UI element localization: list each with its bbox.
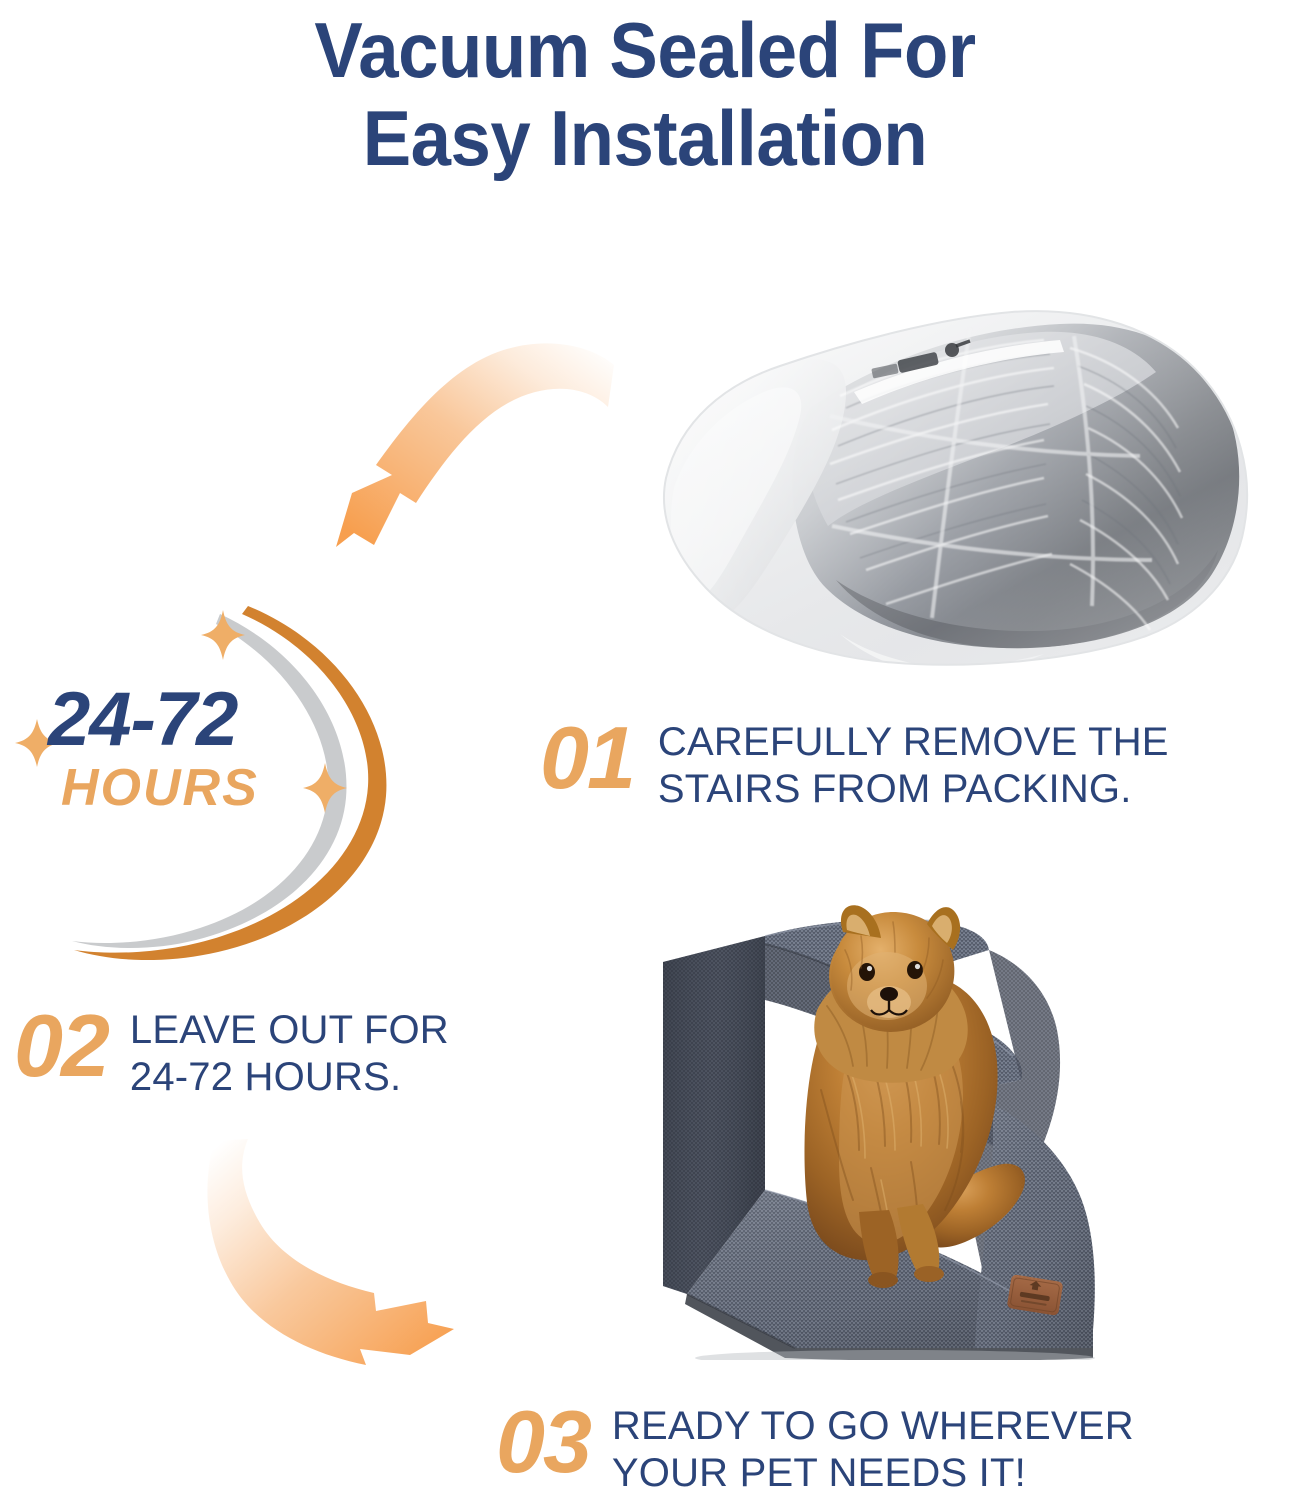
curved-arrow-down-left-icon	[296, 315, 616, 575]
sparkle-star-icon	[200, 609, 246, 661]
headline-line-1: Vacuum Sealed For	[314, 6, 975, 94]
infographic-canvas: Vacuum Sealed For Easy Installation	[0, 0, 1290, 1500]
pet-stairs-with-dog-photo	[645, 890, 1115, 1360]
sparkle-star-icon	[302, 762, 348, 814]
step-03-number: 03	[496, 1398, 590, 1486]
step-03: 03 READY TO GO WHEREVER YOUR PET NEEDS I…	[496, 1398, 1134, 1492]
duration-badge: 24-72 HOURS	[6, 600, 436, 960]
badge-duration-number: 24-72	[48, 682, 237, 758]
step-01-number: 01	[540, 714, 634, 802]
step-01: 01 CAREFULLY REMOVE THE STAIRS FROM PACK…	[540, 712, 1169, 806]
curved-arrow-down-right-icon	[196, 1135, 546, 1395]
step-02: 02 LEAVE OUT FOR 24-72 HOURS.	[14, 1000, 449, 1094]
step-02-number: 02	[14, 1002, 108, 1090]
page-title: Vacuum Sealed For Easy Installation	[45, 6, 1245, 182]
badge-duration-unit: HOURS	[61, 762, 259, 814]
step-02-text: LEAVE OUT FOR 24-72 HOURS.	[130, 1007, 449, 1101]
step-03-text: READY TO GO WHEREVER YOUR PET NEEDS IT!	[612, 1403, 1134, 1497]
headline-line-2: Easy Installation	[45, 94, 1245, 182]
step-01-text: CAREFULLY REMOVE THE STAIRS FROM PACKING…	[658, 719, 1169, 813]
vacuum-sealed-package-photo	[640, 288, 1290, 683]
